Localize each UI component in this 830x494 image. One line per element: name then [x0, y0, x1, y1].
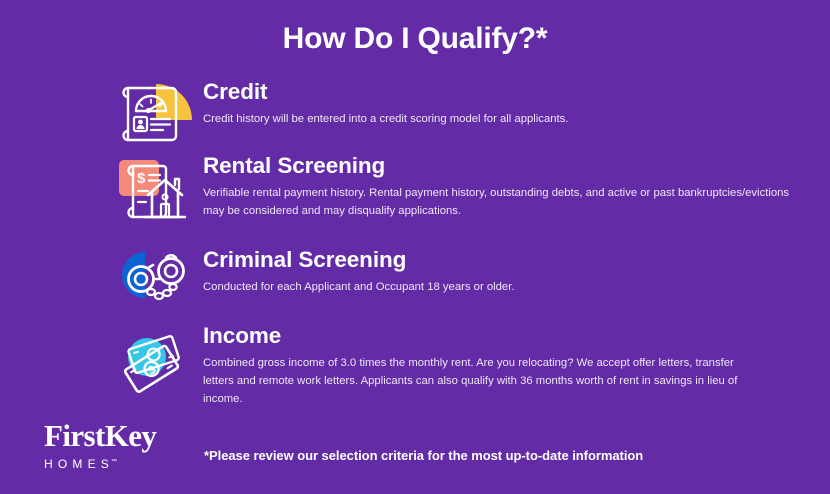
- section-heading: Rental Screening: [203, 154, 803, 178]
- section-body: Combined gross income of 3.0 times the m…: [203, 354, 763, 409]
- rental-invoice-house-icon: $: [115, 152, 193, 224]
- section-text-rental-screening: Rental Screening Verifiable rental payme…: [193, 152, 803, 220]
- section-heading: Credit: [203, 80, 763, 104]
- section-body: Credit history will be entered into a cr…: [203, 110, 763, 128]
- qualification-poster: How Do I Qualify?*: [0, 0, 830, 494]
- section-income: $ Income Combined gross income of 3.0 ti…: [115, 322, 763, 409]
- svg-text:$: $: [137, 170, 146, 187]
- logo-subtitle: HOMES™: [44, 457, 117, 471]
- trademark-symbol: ™: [111, 459, 117, 465]
- section-text-criminal-screening: Criminal Screening Conducted for each Ap…: [193, 246, 763, 296]
- section-heading: Criminal Screening: [203, 248, 763, 272]
- money-banknotes-icon: $: [115, 322, 193, 394]
- section-credit: Credit Credit history will be entered in…: [115, 78, 763, 150]
- section-body: Verifiable rental payment history. Renta…: [203, 184, 803, 221]
- footnote-selection-criteria: *Please review our selection criteria fo…: [204, 448, 643, 463]
- section-body: Conducted for each Applicant and Occupan…: [203, 278, 763, 296]
- section-text-income: Income Combined gross income of 3.0 time…: [193, 322, 763, 409]
- page-title: How Do I Qualify?*: [0, 22, 830, 56]
- section-criminal-screening: Criminal Screening Conducted for each Ap…: [115, 246, 763, 318]
- logo-wordmark: FirstKey: [44, 420, 209, 451]
- firstkey-homes-logo: FirstKey HOMES™: [44, 420, 209, 473]
- section-heading: Income: [203, 324, 763, 348]
- logo-subtitle-text: HOMES: [44, 457, 114, 471]
- section-text-credit: Credit Credit history will be entered in…: [193, 78, 763, 128]
- section-rental-screening: $ Rental Screening Verifiab: [115, 152, 803, 224]
- credit-report-document-icon: [115, 78, 193, 150]
- handcuffs-icon: [115, 246, 193, 318]
